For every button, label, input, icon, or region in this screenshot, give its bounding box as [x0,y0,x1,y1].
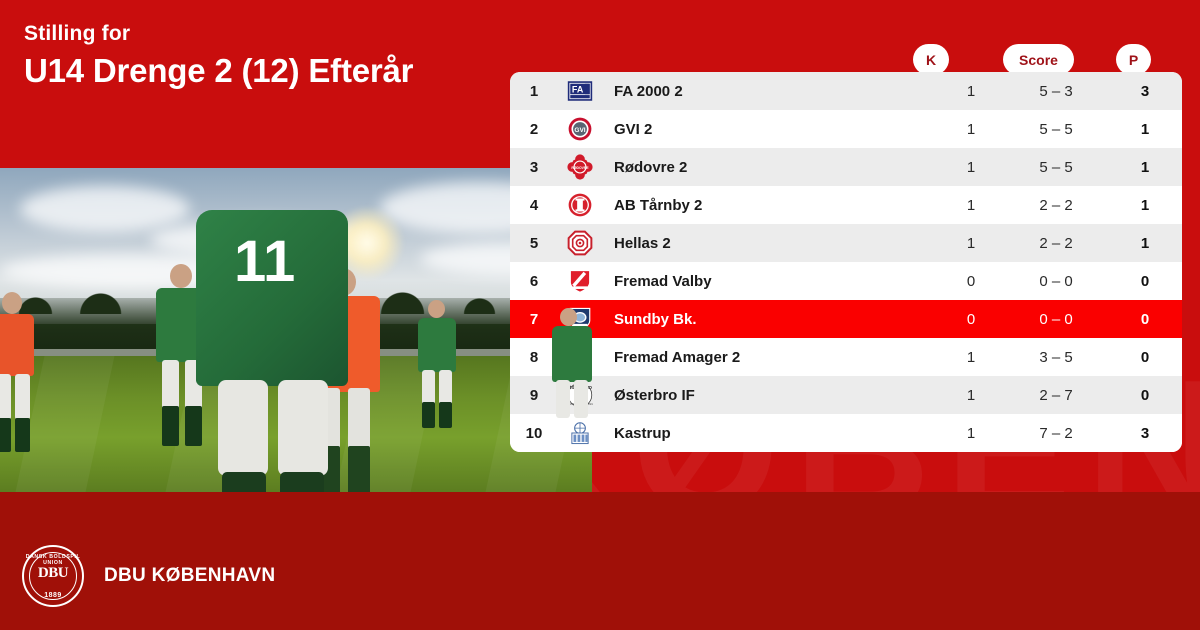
table-row[interactable]: 7Sundby Bk.00 – 00 [510,300,1182,338]
column-badge-k: K [913,44,949,75]
row-points: 1 [1108,121,1182,138]
row-position: 1 [510,83,558,100]
fremadvalby-crest [558,268,602,294]
row-goal-score: 2 – 2 [1004,235,1108,252]
row-goal-score: 0 – 0 [1004,273,1108,290]
row-matches-played: 1 [938,349,1004,366]
logo-monogram: DBU [22,565,84,582]
row-goal-score: 5 – 5 [1004,159,1108,176]
row-matches-played: 1 [938,121,1004,138]
logo-year: 1889 [22,592,84,599]
column-badge-p: P [1116,44,1151,75]
row-points: 0 [1108,349,1182,366]
svg-text:FA: FA [572,85,584,95]
row-matches-played: 1 [938,235,1004,252]
row-goal-score: 5 – 5 [1004,121,1108,138]
row-points: 0 [1108,311,1182,328]
row-points: 1 [1108,159,1182,176]
row-goal-score: 2 – 2 [1004,197,1108,214]
row-position: 2 [510,121,558,138]
cloud-1 [20,186,190,232]
row-matches-played: 1 [938,83,1004,100]
row-goal-score: 5 – 3 [1004,83,1108,100]
row-team-name: Rødovre 2 [602,159,938,176]
row-goal-score: 7 – 2 [1004,425,1108,442]
svg-text:GVI: GVI [574,127,585,134]
row-position: 7 [510,311,558,328]
row-matches-played: 1 [938,197,1004,214]
row-goal-score: 0 – 0 [1004,311,1108,328]
fa2000-crest: FA [558,78,602,104]
row-team-name: AB Tårnby 2 [602,197,938,214]
pitch-stripe-1 [16,356,115,492]
row-team-name: Kastrup [602,425,938,442]
row-position: 6 [510,273,558,290]
abtarnby-crest [558,192,602,218]
row-matches-played: 1 [938,387,1004,404]
row-points: 3 [1108,425,1182,442]
table-row[interactable]: 6Fremad Valby00 – 00 [510,262,1182,300]
row-points: 1 [1108,235,1182,252]
footer-band [0,492,1200,630]
table-row[interactable]: 4AB Tårnby 212 – 21 [510,186,1182,224]
gvi-crest: GVI [558,116,602,142]
row-matches-played: 0 [938,311,1004,328]
table-row[interactable]: 10Kastrup17 – 23 [510,414,1182,452]
row-team-name: GVI 2 [602,121,938,138]
row-position: 3 [510,159,558,176]
hellas-crest [558,230,602,256]
table-row[interactable]: 2GVIGVI 215 – 51 [510,110,1182,148]
column-badge-score: Score [1003,44,1074,75]
row-team-name: Fremad Amager 2 [602,349,938,366]
header-kicker: Stilling for [24,22,130,46]
row-goal-score: 3 – 5 [1004,349,1108,366]
row-goal-score: 2 – 7 [1004,387,1108,404]
svg-text:RØDOVRE: RØDOVRE [571,166,589,170]
row-position: 9 [510,387,558,404]
row-points: 0 [1108,387,1182,404]
row-position: 5 [510,235,558,252]
table-row[interactable]: 8FREMADAFremad Amager 213 – 50 [510,338,1182,376]
row-team-name: Sundby Bk. [602,311,938,328]
dbu-logo: DANSK BOLDSPIL UNION DBU 1889 [22,545,84,607]
row-points: 3 [1108,83,1182,100]
hero-photo: 11 [0,168,592,492]
kastrup-crest [558,420,602,446]
row-matches-played: 1 [938,159,1004,176]
row-team-name: Hellas 2 [602,235,938,252]
row-position: 8 [510,349,558,366]
standings-graphic: DBU KØBENHAVN Stilling for U14 Drenge 2 … [0,0,1200,630]
row-points: 0 [1108,273,1182,290]
organisation-name: DBU KØBENHAVN [104,565,275,587]
row-position: 10 [510,425,558,442]
row-matches-played: 1 [938,425,1004,442]
standings-table: 1FAFA 2000 215 – 332GVIGVI 215 – 513RØDO… [510,72,1182,452]
row-team-name: FA 2000 2 [602,83,938,100]
table-row[interactable]: 3RØDOVRERødovre 215 – 51 [510,148,1182,186]
table-row[interactable]: 9ØSTERBROIDRÆTSFORENINGØsterbro IF12 – 7… [510,376,1182,414]
row-team-name: Fremad Valby [602,273,938,290]
row-matches-played: 0 [938,273,1004,290]
row-points: 1 [1108,197,1182,214]
table-row[interactable]: 5Hellas 212 – 21 [510,224,1182,262]
rodovre-crest: RØDOVRE [558,154,602,180]
row-team-name: Østerbro IF [602,387,938,404]
page-title: U14 Drenge 2 (12) Efterår [24,52,413,90]
table-row[interactable]: 1FAFA 2000 215 – 33 [510,72,1182,110]
row-position: 4 [510,197,558,214]
